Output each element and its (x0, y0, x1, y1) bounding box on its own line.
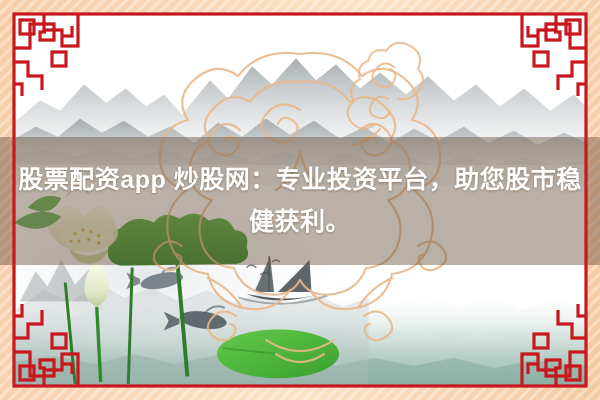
banner-root: 股票配资app 炒股网：专业投资平台，助您股市稳健获利。 (0, 0, 600, 400)
auspicious-cloud-wisp (340, 33, 450, 153)
banner-caption: 股票配资app 炒股网：专业投资平台，助您股市稳健获利。 (0, 159, 600, 243)
caption-band: 股票配资app 炒股网：专业投资平台，助您股市稳健获利。 (0, 137, 600, 265)
